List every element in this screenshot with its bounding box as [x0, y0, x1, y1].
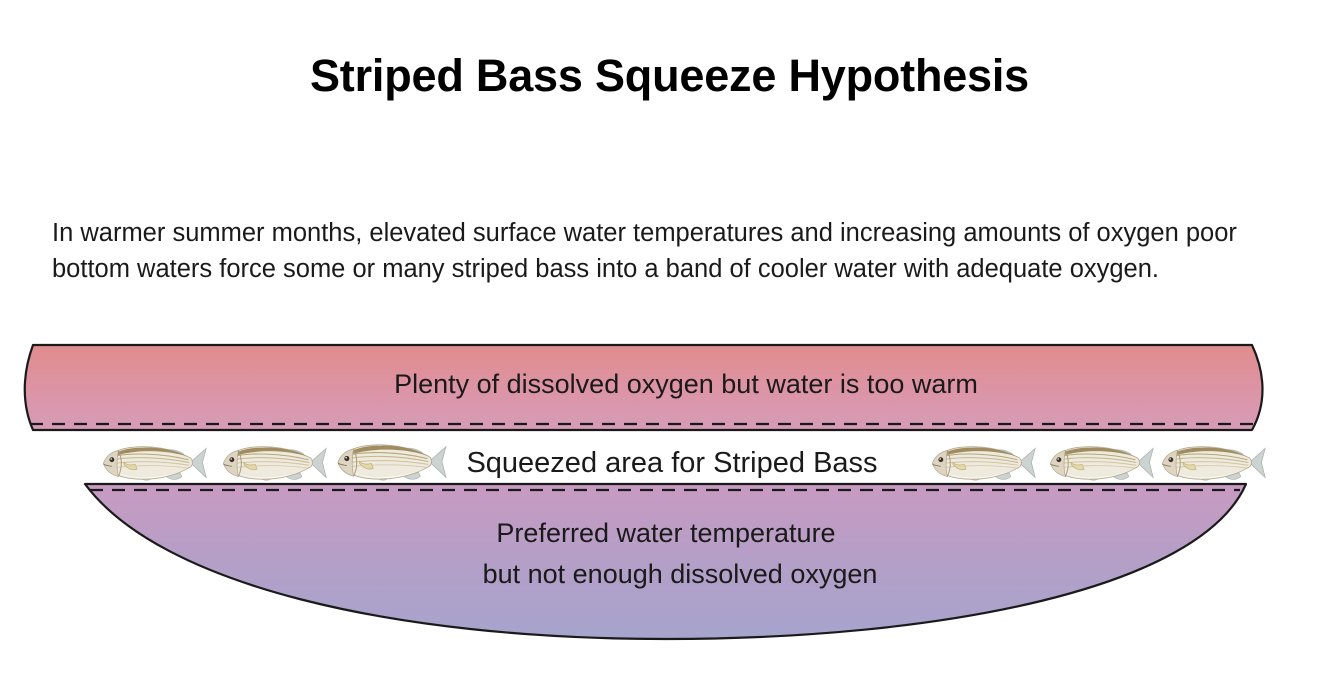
striped-bass-fish [103, 447, 206, 481]
surface-layer-label: Plenty of dissolved oxygen but water is … [394, 369, 978, 399]
bottom-layer-label-line2: but not enough dissolved oxygen [483, 559, 878, 589]
page-title: Striped Bass Squeeze Hypothesis [0, 52, 1339, 101]
striped-bass-fish [1162, 447, 1265, 481]
bottom-layer: Preferred water temperature but not enou… [85, 484, 1246, 639]
striped-bass-fish [1050, 447, 1153, 481]
bottom-layer-label-line1: Preferred water temperature [496, 518, 835, 548]
squeeze-layer-label: Squeezed area for Striped Bass [466, 447, 877, 479]
striped-bass-fish [223, 447, 326, 481]
striped-bass-fish [338, 445, 446, 480]
surface-layer: Plenty of dissolved oxygen but water is … [25, 345, 1263, 430]
squeeze-diagram: Plenty of dissolved oxygen but water is … [0, 333, 1339, 663]
squeeze-layer: Squeezed area for Striped Bass [103, 445, 1265, 480]
striped-bass-fish [932, 447, 1035, 481]
intro-paragraph: In warmer summer months, elevated surfac… [52, 215, 1292, 287]
